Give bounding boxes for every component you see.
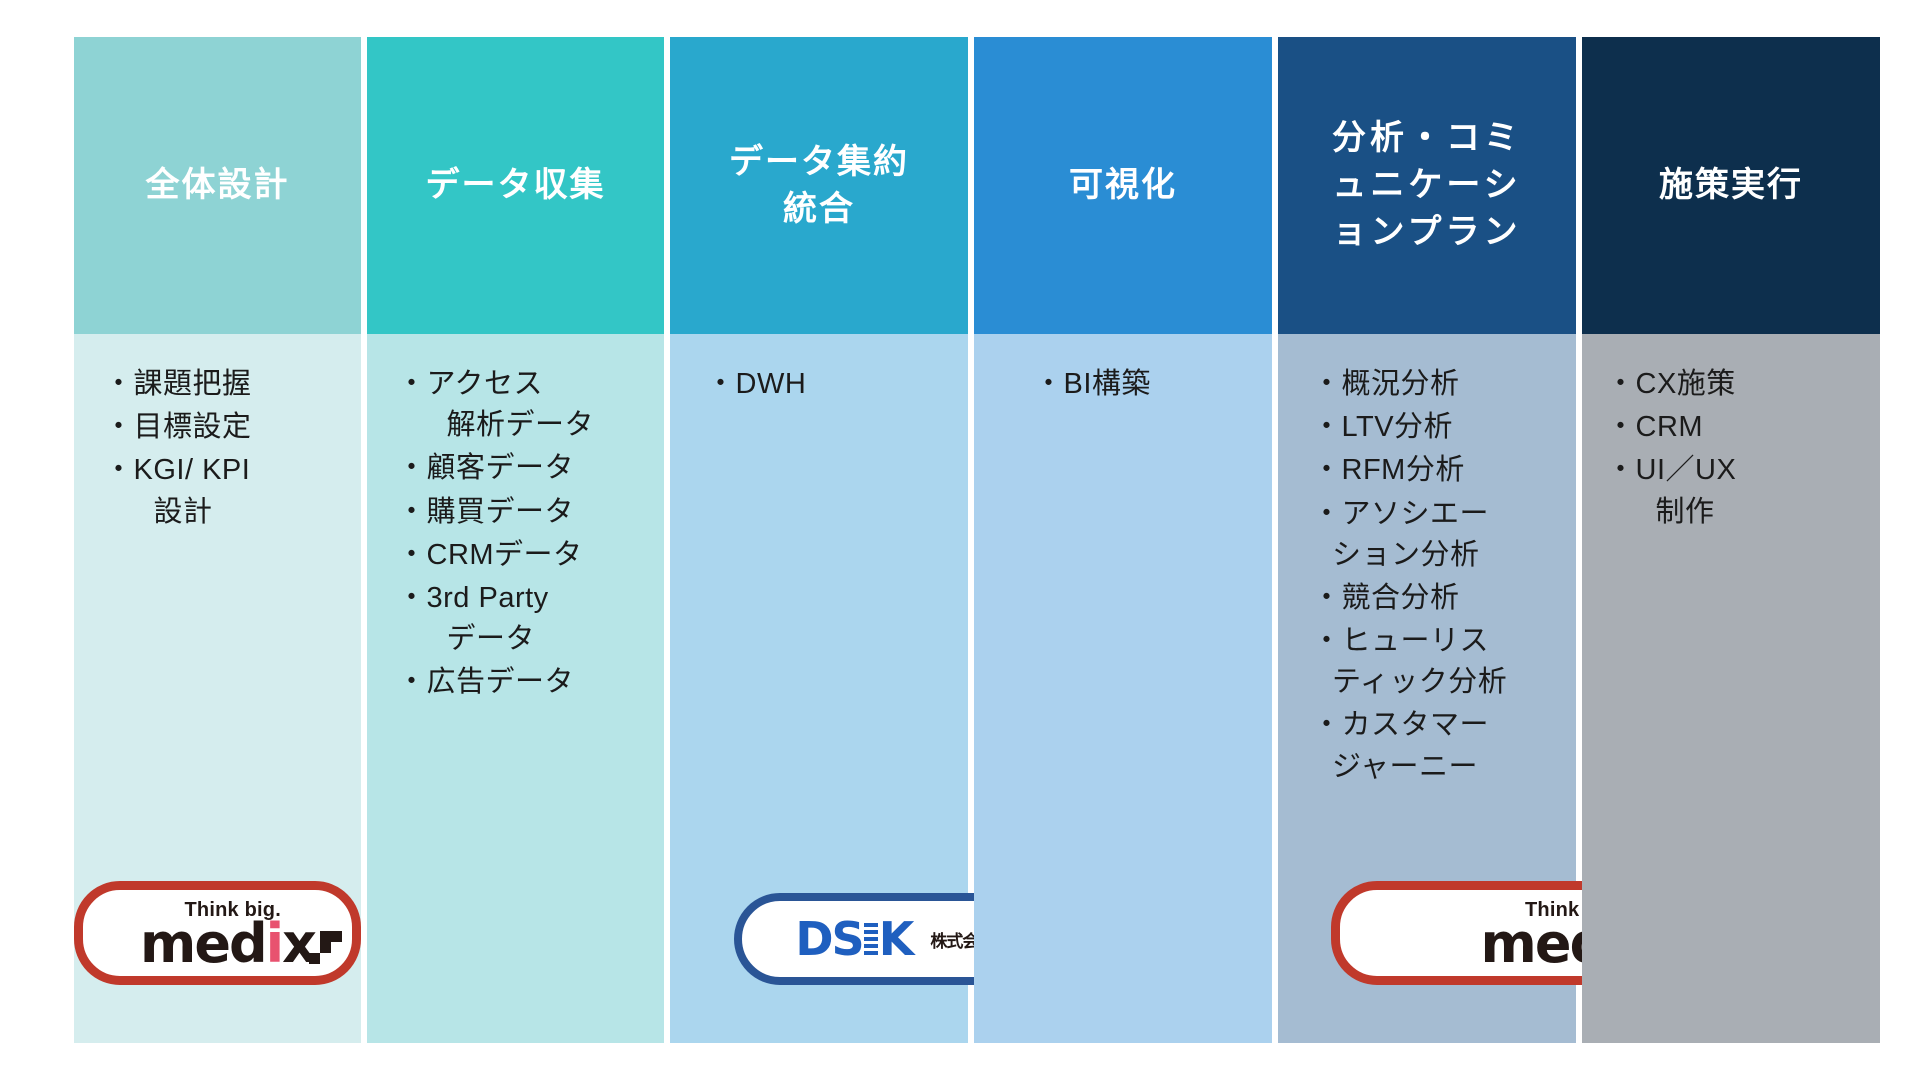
list-item: ・BI構築: [1034, 364, 1266, 405]
list-item: ・顧客データ: [397, 448, 658, 489]
dsk-mark: DSK: [795, 916, 912, 962]
column-body-measure-execution: ・CX施策 ・CRM ・UI／UX 制作: [1582, 334, 1880, 1043]
column-header-data-collection: データ収集: [367, 37, 664, 334]
dsk-mark-pre: DS: [795, 916, 862, 962]
medix-logo: Think big. medix: [74, 881, 361, 985]
list-item: ・アソシエー ション分析: [1312, 494, 1570, 576]
list-item: ・アクセス 解析データ: [397, 364, 658, 446]
list-item: ・RFM分析: [1312, 450, 1570, 491]
column-header-visualization: 可視化: [974, 37, 1272, 334]
column-body-visualization: ・BI構築: [974, 334, 1272, 1043]
list-item: ・目標設定: [104, 407, 355, 448]
logo-slot-overall-design: Think big. medix: [74, 881, 361, 985]
list-item: ・競合分析: [1312, 578, 1570, 619]
column-body-data-collection: ・アクセス 解析データ ・顧客データ ・購買データ ・CRMデータ ・3rd P…: [367, 334, 664, 1043]
column-body-overall-design: ・課題把握 ・目標設定 ・KGI/ KPI 設計 Think big. medi…: [74, 334, 361, 1043]
column-measure-execution: 施策実行 ・CX施策 ・CRM ・UI／UX 制作: [1582, 37, 1880, 1043]
column-data-collection: データ収集 ・アクセス 解析データ ・顧客データ ・購買データ ・CRMデータ …: [367, 37, 664, 1043]
column-header-analysis-communication-plan: 分析・コミ ュニケーシ ョンプラン: [1278, 37, 1576, 334]
item-list-data-integration: ・DWH: [670, 364, 968, 405]
list-item: ・KGI/ KPI 設計: [104, 450, 355, 532]
item-list-visualization: ・BI構築: [974, 364, 1272, 405]
medix-word-accent: i: [266, 912, 283, 975]
dsk-mark-post: K: [879, 916, 913, 962]
list-item: ・UI／UX 制作: [1606, 450, 1874, 532]
process-table: 全体設計 ・課題把握 ・目標設定 ・KGI/ KPI 設計 Think big.…: [74, 37, 1892, 1043]
list-item: ・課題把握: [104, 364, 355, 405]
item-list-measure-execution: ・CX施策 ・CRM ・UI／UX 制作: [1582, 364, 1880, 533]
medix-squares-icon: [309, 926, 343, 966]
column-visualization: 可視化 ・BI構築: [974, 37, 1272, 1043]
item-list-data-collection: ・アクセス 解析データ ・顧客データ ・購買データ ・CRMデータ ・3rd P…: [367, 364, 664, 703]
column-body-data-integration: ・DWH DSK 株式会社 電算システム: [670, 334, 968, 1043]
list-item: ・CRMデータ: [397, 535, 658, 576]
column-header-measure-execution: 施策実行: [1582, 37, 1880, 334]
list-item: ・CX施策: [1606, 364, 1874, 405]
item-list-analysis-communication-plan: ・概況分析 ・LTV分析 ・RFM分析 ・アソシエー ション分析 ・競合分析 ・…: [1278, 364, 1576, 788]
column-analysis-communication-plan: 分析・コミ ュニケーシ ョンプラン ・概況分析 ・LTV分析 ・RFM分析 ・ア…: [1278, 37, 1576, 1043]
column-overall-design: 全体設計 ・課題把握 ・目標設定 ・KGI/ KPI 設計 Think big.…: [74, 37, 361, 1043]
column-header-data-integration: データ集約 統合: [670, 37, 968, 334]
list-item: ・ヒューリス ティック分析: [1312, 621, 1570, 703]
medix-word-pre: med: [140, 912, 266, 975]
column-data-integration: データ集約 統合 ・DWH DSK 株式会社 電算システム: [670, 37, 968, 1043]
item-list-overall-design: ・課題把握 ・目標設定 ・KGI/ KPI 設計: [74, 364, 361, 533]
list-item: ・CRM: [1606, 407, 1874, 448]
column-body-analysis-communication-plan: ・概況分析 ・LTV分析 ・RFM分析 ・アソシエー ション分析 ・競合分析 ・…: [1278, 334, 1576, 1043]
list-item: ・3rd Party データ: [397, 578, 658, 660]
list-item: ・LTV分析: [1312, 407, 1570, 448]
list-item: ・広告データ: [397, 662, 658, 703]
list-item: ・概況分析: [1312, 364, 1570, 405]
list-item: ・カスタマー ジャーニー: [1312, 705, 1570, 787]
medix-wordmark: medix: [140, 922, 315, 966]
list-item: ・購買データ: [397, 492, 658, 533]
dsk-bars-icon: [864, 921, 878, 957]
list-item: ・DWH: [706, 364, 962, 405]
column-header-overall-design: 全体設計: [74, 37, 361, 334]
